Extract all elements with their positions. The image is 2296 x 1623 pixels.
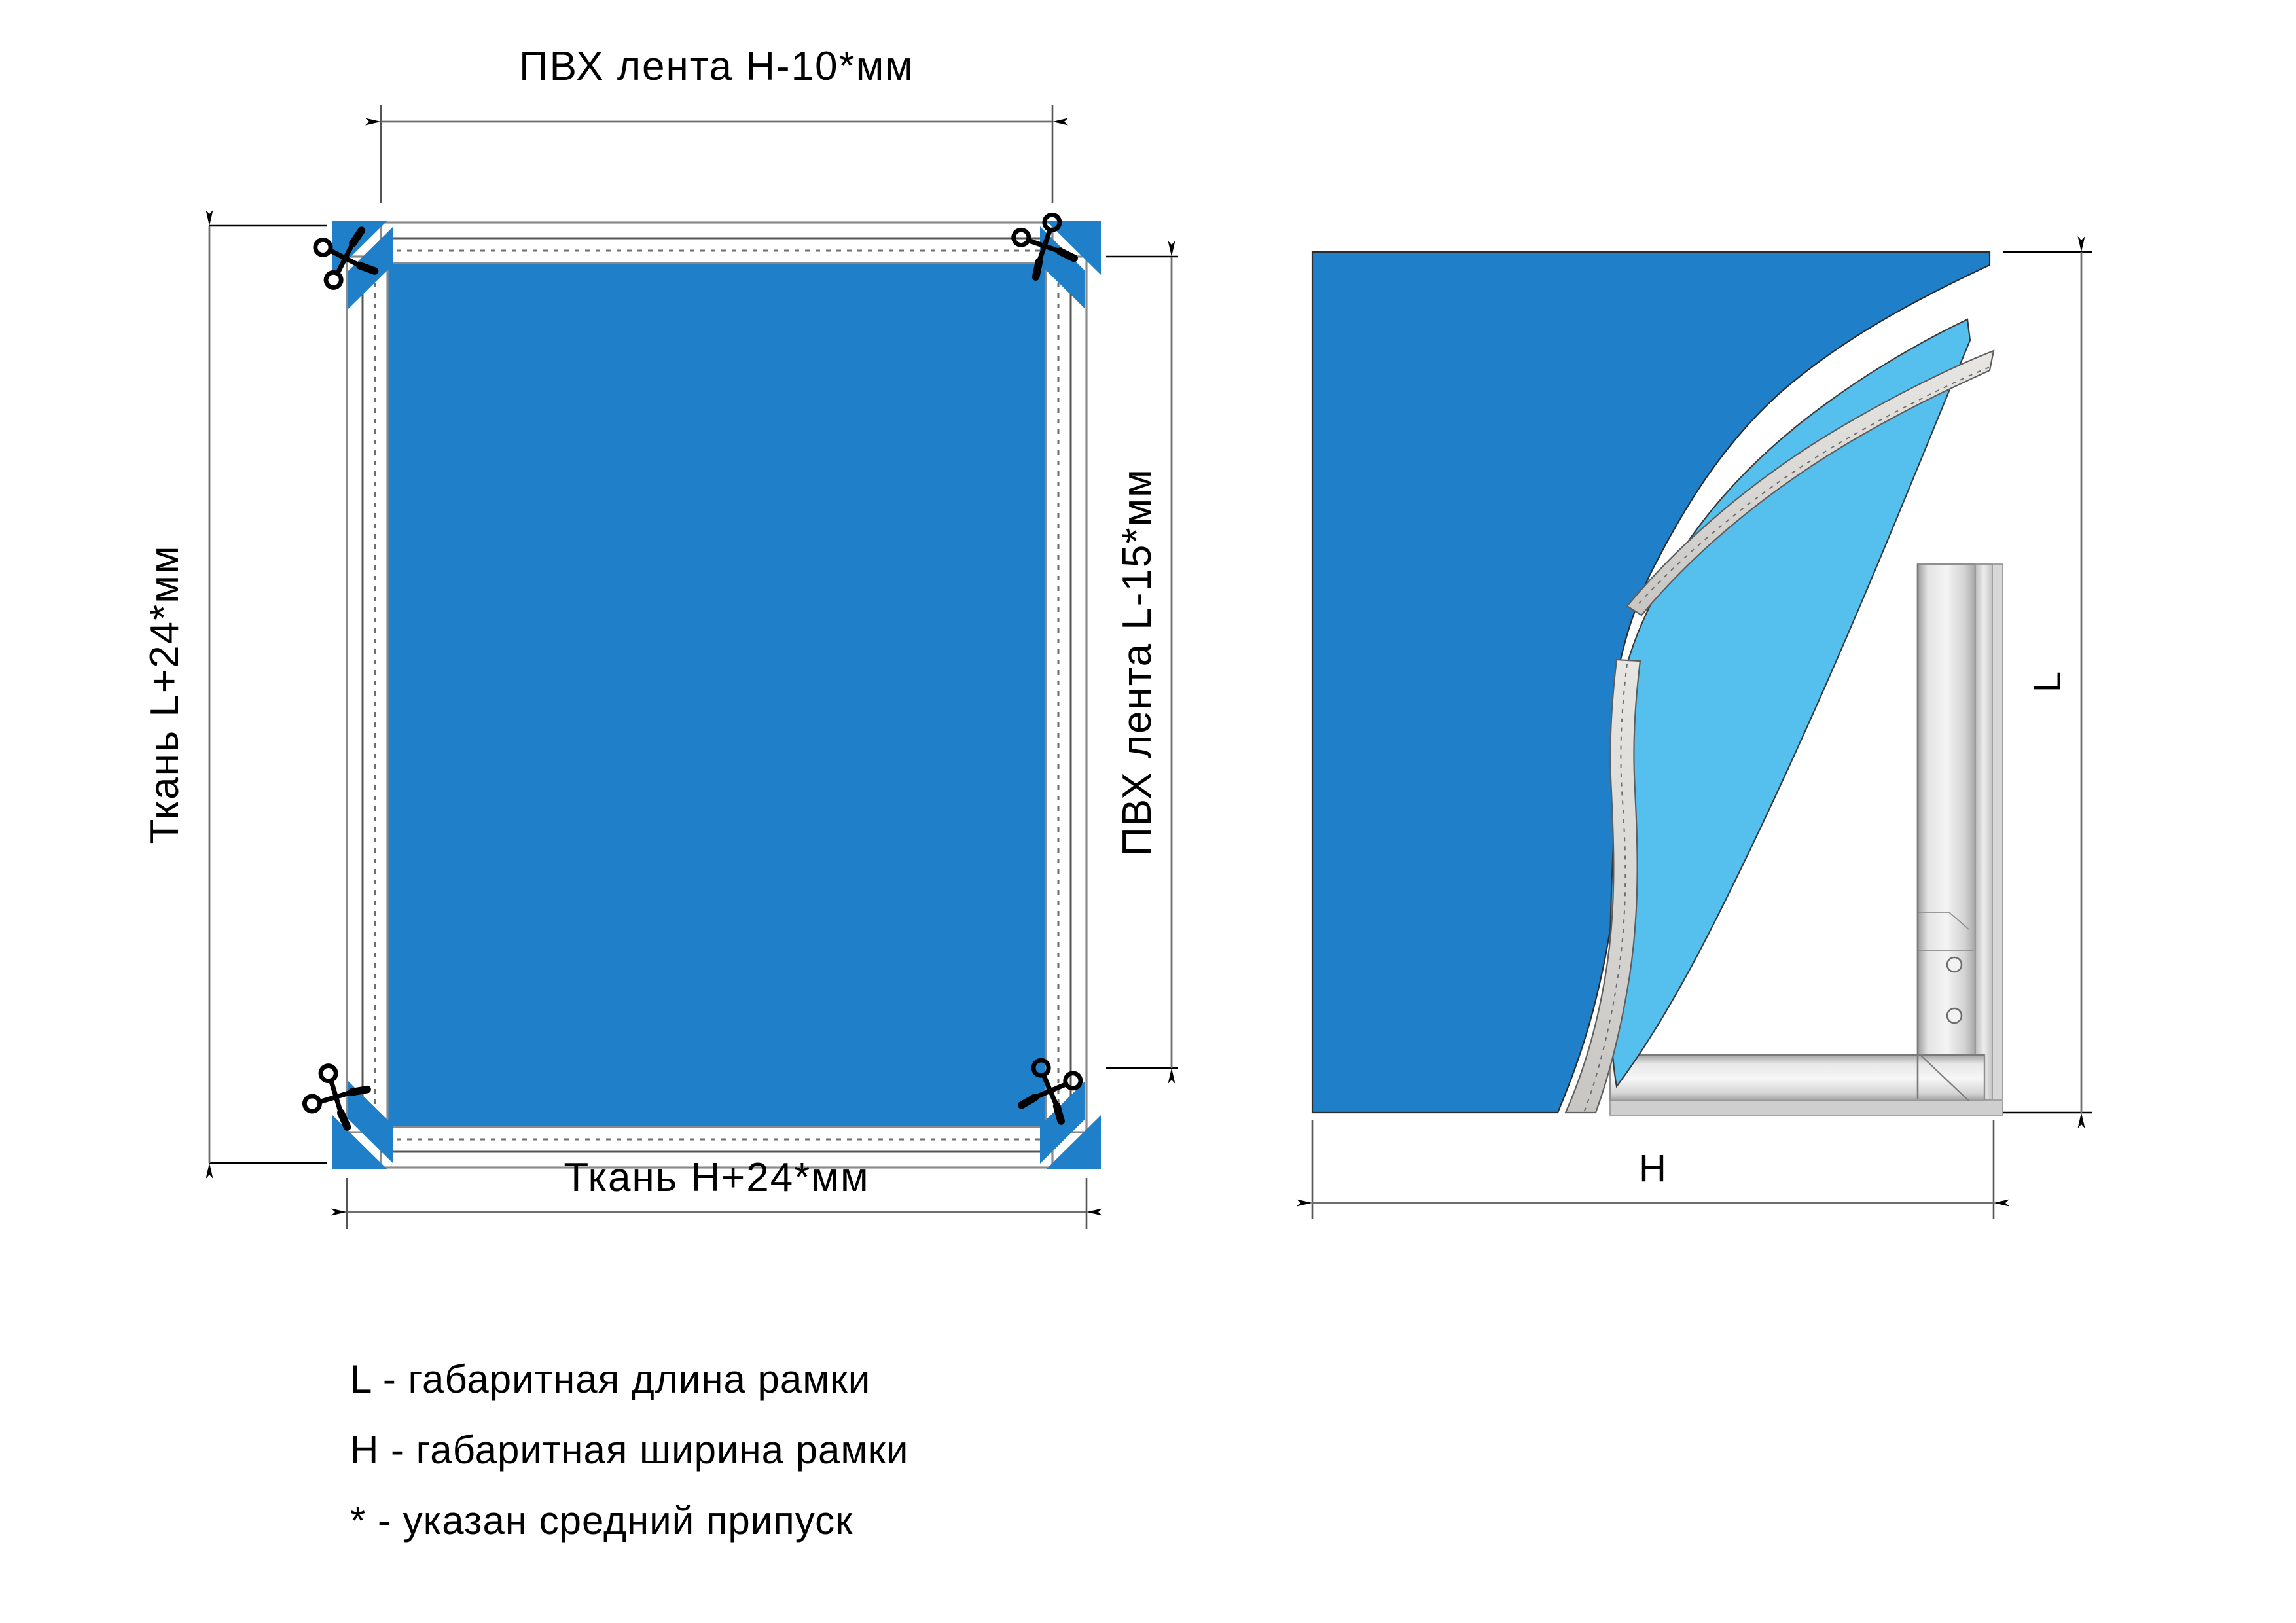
legend-group: L - габаритная длина рамки H - габаритна… — [350, 1357, 908, 1543]
left-view-group: ПВХ лента H-10*мм Ткань H+24*мм Ткань L+… — [142, 44, 1178, 1229]
dimension-label-bottom: Ткань H+24*мм — [564, 1155, 869, 1200]
dimension-top-pvc-tape — [381, 105, 1052, 203]
frame-screw-hole — [1947, 957, 1962, 972]
fabric-panel-left — [381, 257, 1052, 1132]
dimension-label-right-h: H — [1639, 1147, 1666, 1190]
pvc-tape-left — [347, 257, 387, 1132]
right-view-group: H L — [1312, 252, 2092, 1219]
dimension-label-top: ПВХ лента H-10*мм — [519, 44, 914, 89]
pvc-tape-top — [381, 223, 1052, 263]
legend-item-2: * - указан средний припуск — [350, 1499, 853, 1543]
legend-item-0: L - габаритная длина рамки — [350, 1357, 870, 1401]
dimension-label-left: Ткань L+24*мм — [142, 545, 187, 844]
frame-screw-hole — [1947, 1008, 1962, 1023]
drawing-sheet: ПВХ лента H-10*мм Ткань H+24*мм Ткань L+… — [0, 0, 2296, 1623]
dimension-label-right: ПВХ лента L-15*мм — [1115, 468, 1160, 857]
dimension-label-right-l: L — [2026, 671, 2069, 692]
pvc-tape-right — [1046, 257, 1086, 1132]
legend-item-1: H - габаритная ширина рамки — [350, 1428, 908, 1472]
technical-drawing-svg: ПВХ лента H-10*мм Ткань H+24*мм Ткань L+… — [0, 0, 2296, 1623]
dimension-left-fabric — [209, 226, 327, 1163]
